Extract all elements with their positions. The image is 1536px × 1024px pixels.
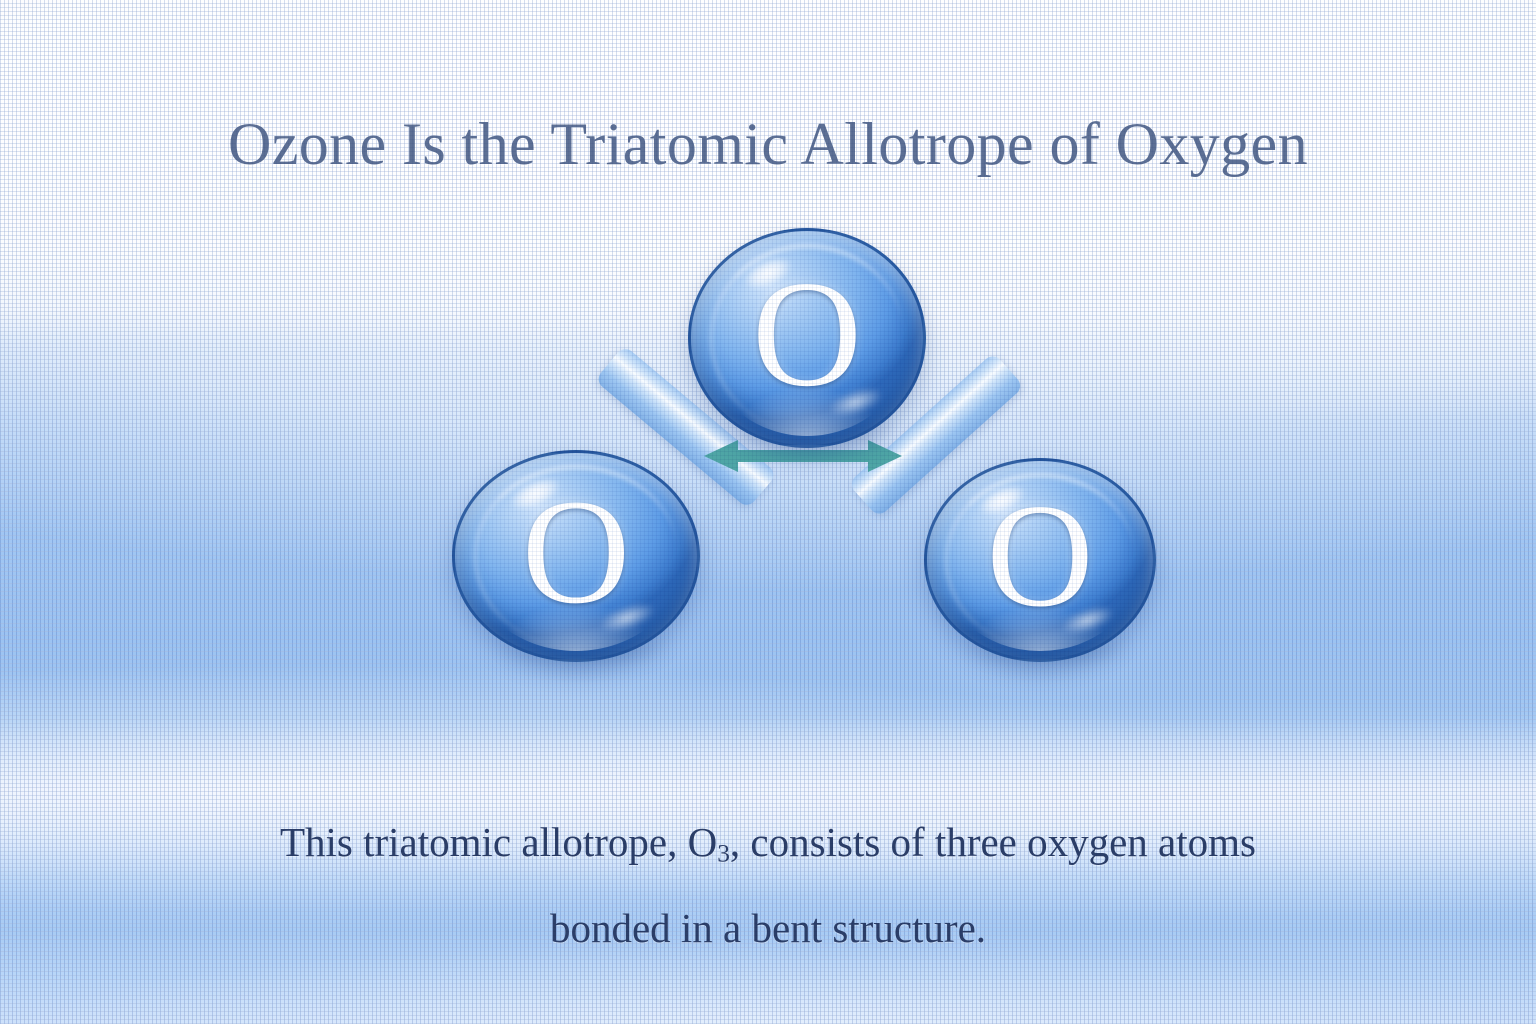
caption-text-after: , consists of three oxygen atoms (730, 819, 1256, 865)
page-title: Ozone Is the Triatomic Allotrope of Oxyg… (0, 114, 1536, 174)
caption-line-1: This triatomic allotrope, O3, consists o… (0, 822, 1536, 863)
caption-text-before: This triatomic allotrope, O (280, 819, 717, 865)
formula-subscript: 3 (717, 840, 730, 868)
caption-line-2: bonded in a bent structure. (0, 908, 1536, 949)
illustration-canvas: Ozone Is the Triatomic Allotrope of Oxyg… (0, 0, 1536, 1024)
